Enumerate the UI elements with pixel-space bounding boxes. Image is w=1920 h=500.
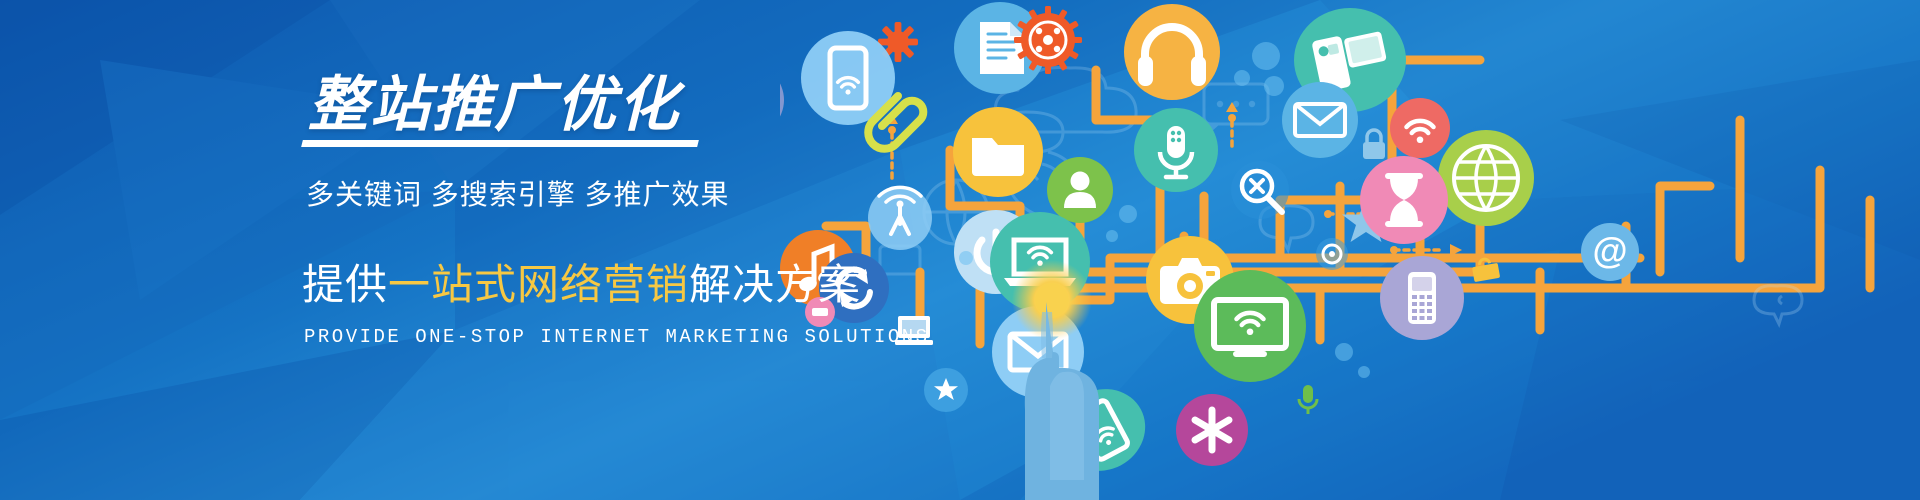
svg-text:@: @ (1592, 230, 1627, 271)
envelope-icon (1282, 82, 1358, 158)
icon-tree-illustration: @ (780, 0, 1920, 500)
search-close-icon (1231, 161, 1289, 219)
asterisk-icon (1176, 394, 1248, 466)
lock-icon (1363, 130, 1385, 159)
globe-icon (1438, 130, 1534, 226)
tagline-accent: 一站式网络营销 (388, 261, 689, 308)
wifi-signal-icon (1390, 98, 1450, 158)
headline-underline (301, 140, 699, 147)
microphone-icon (1134, 108, 1218, 192)
page-title: 整站推广优化 (308, 74, 936, 135)
tagline-lead: 提供 (302, 261, 388, 308)
banner-tagline: 提供一站式网络营销解决方案 (302, 251, 936, 312)
target-icon (1316, 238, 1348, 270)
promotional-banner: 整站推广优化 多关键词 多搜索引擎 多推广效果 提供一站式网络营销解决方案 PR… (0, 0, 1920, 500)
feature-phone-icon (1380, 256, 1464, 340)
hourglass-icon (1360, 156, 1448, 244)
banner-english-tagline: PROVIDE ONE-STOP INTERNET MARKETING SOLU… (304, 326, 936, 348)
tagline-tail: 解决方案 (689, 261, 861, 308)
headphones-icon (1124, 4, 1220, 100)
folder-icon (953, 107, 1043, 197)
at-sign-icon: @ (1581, 223, 1639, 281)
user-icon (1047, 157, 1113, 223)
star-icon (924, 368, 968, 412)
microphone-icon (1299, 385, 1317, 414)
banner-text-block: 整站推广优化 多关键词 多搜索引擎 多推广效果 提供一站式网络营销解决方案 PR… (296, 74, 936, 348)
monitor-wifi-icon (1194, 270, 1306, 382)
banner-subtitle: 多关键词 多搜索引擎 多推广效果 (306, 173, 936, 213)
